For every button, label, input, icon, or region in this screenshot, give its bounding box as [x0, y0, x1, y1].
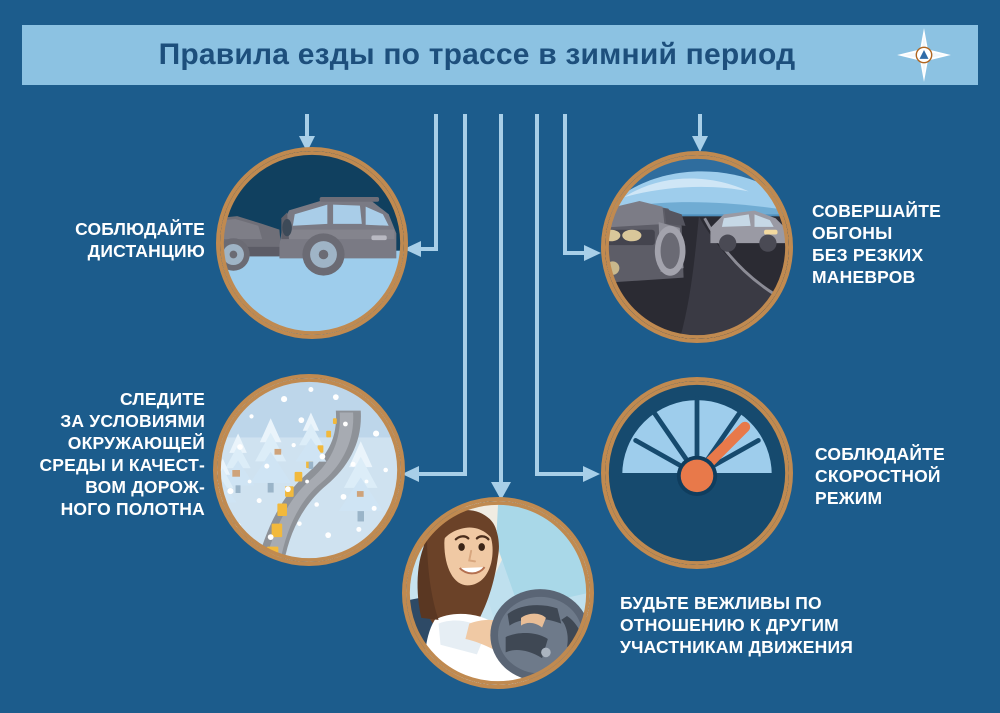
- label-overtaking: СОВЕРШАЙТЕ ОБГОНЫ БЕЗ РЕЗКИХ МАНЕВРОВ: [812, 200, 997, 288]
- illustration-road-conditions: [213, 374, 405, 566]
- label-line: СОВЕРШАЙТЕ: [812, 200, 997, 222]
- label-speed: СОБЛЮДАЙТЕ СКОРОСТНОЙ РЕЖИМ: [815, 443, 995, 509]
- illustration-driver: [402, 497, 594, 689]
- label-line: ОКРУЖАЮЩЕЙ: [10, 432, 205, 454]
- page-title: Правила езды по трассе в зимний период: [159, 38, 796, 72]
- illustration-overtaking: [601, 151, 793, 343]
- label-line: ВОМ ДОРОЖ-: [10, 476, 205, 498]
- illustration-speedometer: [601, 377, 793, 569]
- label-line: МАНЕВРОВ: [812, 266, 997, 288]
- steering-wheel: [490, 589, 590, 681]
- label-line: СОБЛЮДАЙТЕ: [815, 443, 995, 465]
- emercom-star-logo: [896, 27, 952, 83]
- illustration-distance: [216, 147, 408, 339]
- label-distance: СОБЛЮДАЙТЕ ДИСТАНЦИЮ: [10, 218, 205, 262]
- car-near: [605, 201, 686, 283]
- label-line: СРЕДЫ И КАЧЕСТ-: [10, 454, 205, 476]
- label-line: СКОРОСТНОЙ: [815, 465, 995, 487]
- label-line: НОГО ПОЛОТНА: [10, 498, 205, 520]
- label-politeness: БУДЬТЕ ВЕЖЛИВЫ ПО ОТНОШЕНИЮ К ДРУГИМ УЧА…: [620, 592, 980, 658]
- label-line: СЛЕДИТЕ: [10, 388, 205, 410]
- label-line: БУДЬТЕ ВЕЖЛИВЫ ПО: [620, 592, 980, 614]
- label-line: ЗА УСЛОВИЯМИ: [10, 410, 205, 432]
- label-line: БЕЗ РЕЗКИХ: [812, 244, 997, 266]
- label-line: СОБЛЮДАЙТЕ: [10, 218, 205, 240]
- label-road-conditions: СЛЕДИТЕ ЗА УСЛОВИЯМИ ОКРУЖАЮЩЕЙ СРЕДЫ И …: [10, 388, 205, 520]
- label-line: ОТНОШЕНИЮ К ДРУГИМ: [620, 614, 980, 636]
- label-line: РЕЖИМ: [815, 487, 995, 509]
- label-line: ОБГОНЫ: [812, 222, 997, 244]
- label-line: ДИСТАНЦИЮ: [10, 240, 205, 262]
- title-banner: Правила езды по трассе в зимний период: [22, 25, 978, 85]
- infographic-canvas: Правила езды по трассе в зимний период: [0, 0, 1000, 713]
- label-line: УЧАСТНИКАМ ДВИЖЕНИЯ: [620, 636, 980, 658]
